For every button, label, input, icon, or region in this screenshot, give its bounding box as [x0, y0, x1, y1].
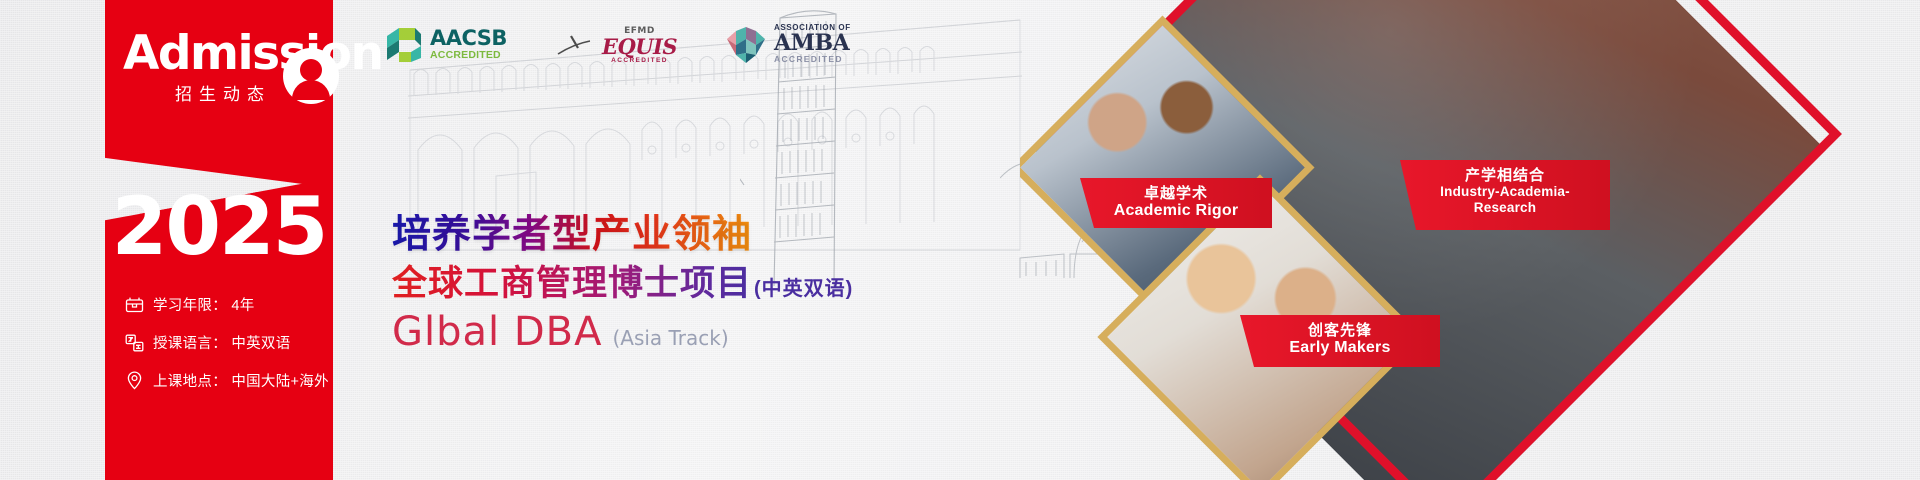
equis-accreditation: EFMD EQUIS ACCREDITED [555, 26, 677, 64]
efmd-swoosh-icon [555, 32, 595, 58]
aacsb-logo-icon [385, 26, 423, 64]
info-text-location: 上课地点： 中国大陆+海外 [153, 370, 329, 391]
info-row-location: 上课地点： 中国大陆+海外 [123, 370, 333, 391]
aacsb-text: AACSB ACCREDITED [430, 28, 507, 63]
equis-text: EFMD EQUIS ACCREDITED [602, 26, 677, 64]
amba-subtitle: ACCREDITED [774, 54, 851, 64]
card-label-industry-academia: 产学相结合 Industry-Academia- Research [1400, 160, 1610, 230]
program-info-list: 学习年限： 4年 授课语言： 中英双语 [123, 294, 333, 408]
industry-academia-cn: 产学相结合 [1400, 167, 1610, 184]
info-row-duration: 学习年限： 4年 [123, 294, 333, 315]
industry-academia-en1: Industry-Academia- [1400, 184, 1610, 200]
headline-line2-main: 全球工商管理博士项目 [392, 263, 752, 305]
equis-title: EQUIS [602, 36, 677, 57]
headline-line1: 培养学者型产业领袖 [392, 214, 853, 257]
amba-accreditation: ASSOCIATION OF AMBA ACCREDITED [725, 24, 851, 64]
info-row-language: 授课语言： 中英双语 [123, 332, 333, 353]
person-circle-icon [283, 48, 339, 104]
headline-line3: Glbal DBA (Asia Track) [392, 309, 853, 355]
amba-title: AMBA [774, 32, 851, 54]
admission-logo: Admission 招生动态 [123, 30, 335, 120]
early-makers-cn: 创客先锋 [1240, 322, 1440, 339]
headline-line2-sub: (中英双语) [754, 277, 853, 301]
admission-logo-cn: 招生动态 [175, 80, 271, 105]
year-label: 2025 [105, 180, 333, 273]
aacsb-accreditation: AACSB ACCREDITED [385, 26, 507, 64]
amba-diamond-icon [725, 25, 767, 63]
card-label-early-makers: 创客先锋 Early Makers [1240, 315, 1440, 367]
accreditation-logos: AACSB ACCREDITED EFMD EQUIS ACCREDITED [385, 24, 851, 64]
aacsb-title: AACSB [430, 28, 507, 49]
industry-academia-label: 产学相结合 Industry-Academia- Research [1400, 167, 1610, 215]
location-pin-icon [123, 371, 145, 391]
industry-academia-en2: Research [1400, 200, 1610, 216]
early-makers-en: Early Makers [1240, 339, 1440, 357]
calendar-icon [123, 295, 145, 315]
academic-rigor-label: 卓越学术 Academic Rigor [1080, 185, 1272, 221]
early-makers-label: 创客先锋 Early Makers [1240, 322, 1440, 358]
amba-text: ASSOCIATION OF AMBA ACCREDITED [774, 24, 851, 64]
admission-banner: Admission 招生动态 2025 学习年限： 4年 [0, 0, 1920, 480]
language-icon [123, 333, 145, 353]
card-label-academic-rigor: 卓越学术 Academic Rigor [1080, 178, 1272, 228]
info-text-duration: 学习年限： 4年 [153, 294, 255, 315]
headline-line2: 全球工商管理博士项目 (中英双语) [392, 263, 853, 305]
academic-rigor-cn: 卓越学术 [1080, 185, 1272, 202]
academic-rigor-en: Academic Rigor [1080, 202, 1272, 220]
aacsb-subtitle: ACCREDITED [430, 49, 507, 63]
equis-subtitle: ACCREDITED [602, 57, 677, 64]
admission-badge-panel: Admission 招生动态 2025 学习年限： 4年 [105, 0, 333, 480]
photo-collage: 卓越学术 Academic Rigor 产学相结合 Industry-Acade… [1020, 0, 1920, 480]
headline-block: 培养学者型产业领袖 全球工商管理博士项目 (中英双语) Glbal DBA (A… [392, 214, 853, 355]
headline-line3-track: (Asia Track) [612, 326, 728, 350]
headline-line3-en: Glbal DBA [392, 309, 602, 355]
info-text-language: 授课语言： 中英双语 [153, 332, 291, 353]
